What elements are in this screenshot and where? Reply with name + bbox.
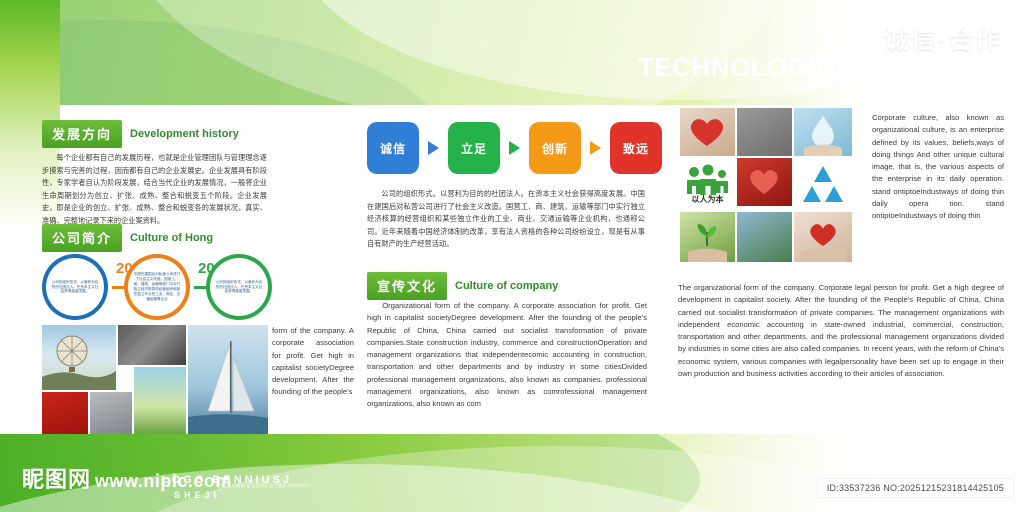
section-heading-culture: 宣传文化 Culture of company xyxy=(367,272,558,300)
header-title-en-light: innovation xyxy=(878,52,1002,82)
photo-grey-block xyxy=(90,392,132,438)
blue-green-photo-image xyxy=(737,212,792,262)
timeline-ring-2-text: 中国在建国后对私营公司进行了社会主义改造，国营工、商、建筑、运输等部门中实行独立… xyxy=(133,272,181,301)
hands-heart-photo xyxy=(680,108,735,156)
hands-heart-photo-image xyxy=(680,108,735,156)
chip-lizu-label: 立足 xyxy=(461,140,487,157)
right-column-top-text: Corporate culture, also known as organiz… xyxy=(872,112,1004,223)
heart-hands-red-photo xyxy=(794,212,852,262)
grey-square-photo-image xyxy=(737,108,792,156)
water-drop-hand-photo-image xyxy=(794,108,852,156)
icon-photo-grid: 以人为本 xyxy=(680,108,852,266)
icon-grid-label-people-first: 以人为本 xyxy=(680,194,735,205)
bottom-fade-right xyxy=(724,434,1024,512)
id-badge: ID:33537236 NO:20251215231814425105 xyxy=(817,478,1014,498)
timeline-ring-3-text: 公司的组织形式，以营利为目的的社团法人。在资本主义社会获得高度发展。 xyxy=(215,280,263,295)
timeline-ring-1: 公司的组织形式，以营利为目的的社团法人。在资本主义社会获得高度发展。 xyxy=(42,254,108,320)
photo-grey-block-image xyxy=(90,392,132,438)
photo-hot-air-balloon-image xyxy=(42,325,116,390)
section-tag-company: 公司简介 xyxy=(42,224,122,252)
footer-logo-cn: 眤图网 xyxy=(22,462,91,494)
recycle-triangle-icon-cell xyxy=(794,158,852,206)
center-body-cn-paragraph: 公司的组织形式。以营利为目的的社团法人。在资本主义社会获得高度发展。中国在建国后… xyxy=(367,188,645,251)
chip-zhiyuan: 致远 xyxy=(610,122,662,174)
timeline-ring-2: 中国在建国后对私营公司进行了社会主义改造，国营工、商、建筑、运输等部门中实行独立… xyxy=(124,254,190,320)
timeline-group: 公司的组织形式，以营利为目的的社团法人。在资本主义社会获得高度发展。 2015 … xyxy=(42,252,272,324)
chip-chuangxin-label: 创新 xyxy=(542,140,568,157)
section-tag-culture: 宣传文化 xyxy=(367,272,447,300)
seedling-hand-photo xyxy=(680,212,735,262)
heart-hands-photo-image xyxy=(737,158,792,206)
development-body-text: 每个企业都有自己的发展历程，也就是企业管理团队与管理理念逐步摸索与完善的过程，因… xyxy=(42,152,267,228)
left-photo-caption-text: form of the company. A corporate associa… xyxy=(272,325,354,399)
footer-sub-text: 企业文化展板 企业宣传栏设计模板 绿色简约大气 xyxy=(218,483,313,497)
chip-zhiyuan-label: 致远 xyxy=(623,140,649,157)
footer-brand-line2: SHEJI xyxy=(174,490,220,500)
section-en-development: Development history xyxy=(130,128,239,140)
timeline-ring-3-inner: 公司的组织形式，以营利为目的的社团法人。在资本主义社会获得高度发展。 xyxy=(210,258,268,316)
header-title-cn: 诚信·合作 xyxy=(884,20,1002,56)
photo-handshake-image xyxy=(118,325,186,365)
center-body-en-paragraph: Organizational form of the company. A co… xyxy=(367,300,647,411)
timeline-ring-3: 公司的组织形式，以营利为目的的社团法人。在资本主义社会获得高度发展。 xyxy=(206,254,272,320)
chip-arrow-3-icon xyxy=(590,141,601,155)
timeline-ring-1-inner: 公司的组织形式，以营利为目的的社团法人。在资本主义社会获得高度发展。 xyxy=(46,258,104,316)
recycle-triangle-icon xyxy=(794,158,852,206)
water-drop-icon xyxy=(794,108,852,156)
photo-green-field-image xyxy=(134,367,186,438)
sailboat-illustration-icon xyxy=(188,325,268,438)
timeline-ring-1-text: 公司的组织形式，以营利为目的的社团法人。在资本主义社会获得高度发展。 xyxy=(51,280,99,295)
heart-hands-icon xyxy=(737,158,792,206)
timeline-ring-2-inner: 中国在建国后对私营公司进行了社会主义改造，国营工、商、建筑、运输等部门中实行独立… xyxy=(128,258,186,316)
section-tag-development: 发展方向 xyxy=(42,120,122,148)
blue-green-photo xyxy=(737,212,792,262)
chip-chuangxin: 创新 xyxy=(529,122,581,174)
header-title-en-bold: TECHNOLOGICAL xyxy=(638,52,871,82)
section-en-culture: Culture of company xyxy=(455,280,558,292)
photo-handshake xyxy=(118,325,186,365)
header-title-en: TECHNOLOGICAL innovation xyxy=(638,52,1002,83)
heart-hands-photo xyxy=(737,158,792,206)
heart-hands-red-photo-image xyxy=(794,212,852,262)
seedling-icon xyxy=(680,212,735,262)
photo-sailboat-image xyxy=(188,325,268,438)
photo-sailboat xyxy=(188,325,268,438)
seedling-hand-photo-image xyxy=(680,212,735,262)
photo-red-block xyxy=(42,392,88,438)
value-chips-group: 诚信 立足 创新 致远 xyxy=(367,122,662,174)
right-column-bottom-text: The organizational form of the company. … xyxy=(678,282,1004,380)
heart-icon xyxy=(680,108,735,156)
section-heading-development: 发展方向 Development history xyxy=(42,120,239,148)
photo-hot-air-balloon xyxy=(42,325,116,390)
photo-green-field xyxy=(134,367,186,438)
chip-arrow-1-icon xyxy=(428,141,439,155)
chip-chengxin-label: 诚信 xyxy=(380,140,406,157)
chip-chengxin: 诚信 xyxy=(367,122,419,174)
center-body-en: Organizational form of the company. A co… xyxy=(367,300,647,411)
development-body-paragraph: 每个企业都有自己的发展历程，也就是企业管理团队与管理理念逐步摸索与完善的过程，因… xyxy=(42,152,267,228)
grey-square-photo xyxy=(737,108,792,156)
section-en-company: Culture of Hong xyxy=(130,232,213,244)
poster-canvas: 诚信·合作 TECHNOLOGICAL innovation 发展方向 Deve… xyxy=(0,0,1024,512)
water-drop-hand-photo xyxy=(794,108,852,156)
section-heading-company: 公司简介 Culture of Hong xyxy=(42,224,213,252)
chip-arrow-2-icon xyxy=(509,141,520,155)
red-heart-icon xyxy=(794,212,852,262)
chip-lizu: 立足 xyxy=(448,122,500,174)
center-body-cn: 公司的组织形式。以营利为目的的社团法人。在资本主义社会获得高度发展。中国在建国后… xyxy=(367,188,645,251)
balloon-illustration-icon xyxy=(42,325,116,390)
photo-red-block-image xyxy=(42,392,88,438)
